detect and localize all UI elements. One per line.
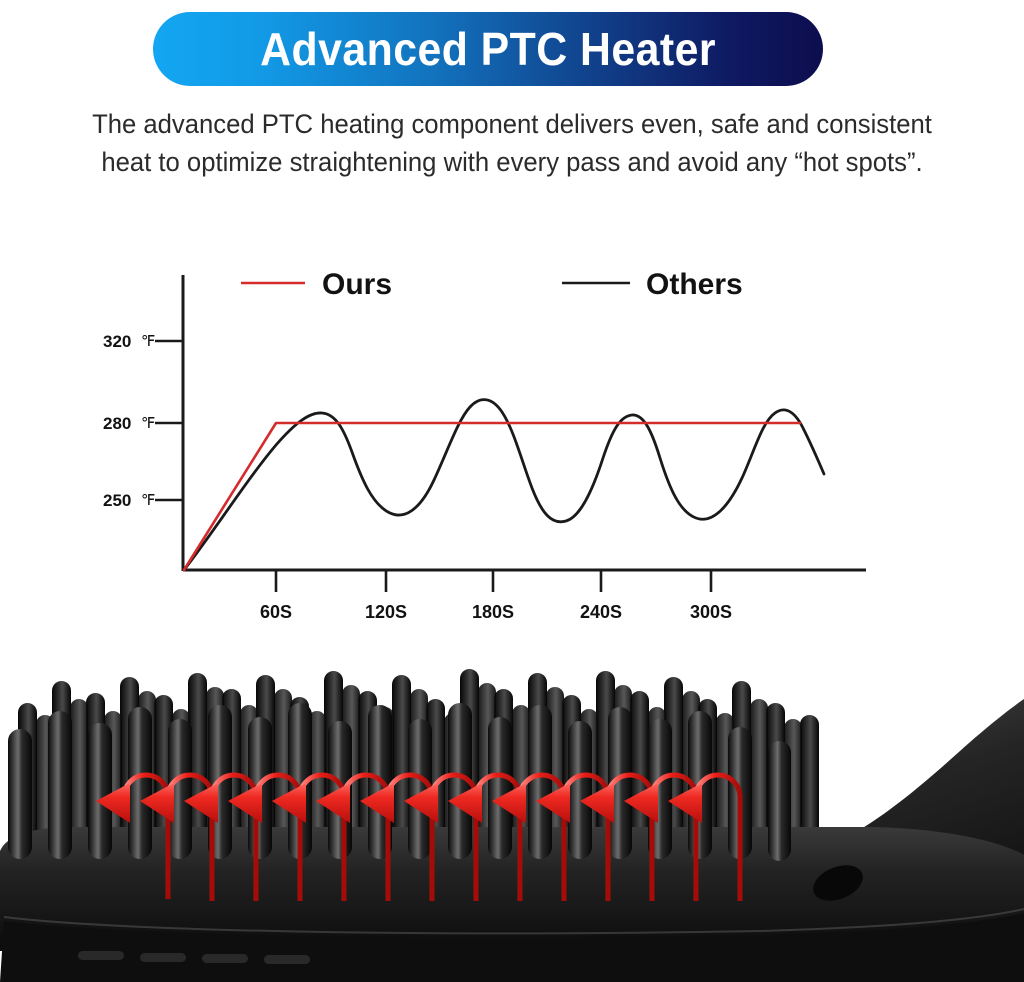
legend-label-ours: Ours	[322, 268, 392, 301]
y-tick-label-250: 250	[103, 491, 131, 510]
y-tick-unit-280: ℉	[141, 415, 155, 432]
y-tick-label-280: 280	[103, 414, 131, 433]
x-tick-label-60: 60S	[260, 602, 292, 622]
x-axis-ticks: 60S 120S 180S 240S 300S	[260, 570, 732, 622]
y-tick-unit-250: ℉	[141, 492, 155, 509]
series-line-others	[184, 400, 824, 570]
page-title: Advanced PTC Heater	[260, 26, 716, 72]
x-tick-label-240: 240S	[580, 602, 622, 622]
y-axis-ticks: 320 ℉ 280 ℉ 250 ℉	[103, 332, 183, 510]
y-tick-label-320: 320	[103, 332, 131, 351]
description-line-2: heat to optimize straightening with ever…	[26, 143, 999, 181]
heating-curve-chart: Ours Others 320 ℉ 280 ℉ 250 ℉	[0, 240, 1024, 640]
title-banner-pill: Advanced PTC Heater	[153, 12, 823, 86]
page-root: Advanced PTC Heater The advanced PTC hea…	[0, 0, 1024, 982]
x-tick-label-120: 120S	[365, 602, 407, 622]
description-text: The advanced PTC heating component deliv…	[0, 105, 1024, 181]
product-image	[0, 655, 1024, 982]
legend-label-others: Others	[646, 268, 743, 301]
description-line-1: The advanced PTC heating component deliv…	[26, 105, 999, 143]
x-tick-label-180: 180S	[472, 602, 514, 622]
y-tick-unit-320: ℉	[141, 333, 155, 350]
chart-legend: Ours Others	[241, 268, 743, 301]
title-banner: Advanced PTC Heater	[153, 12, 823, 86]
x-tick-label-300: 300S	[690, 602, 732, 622]
